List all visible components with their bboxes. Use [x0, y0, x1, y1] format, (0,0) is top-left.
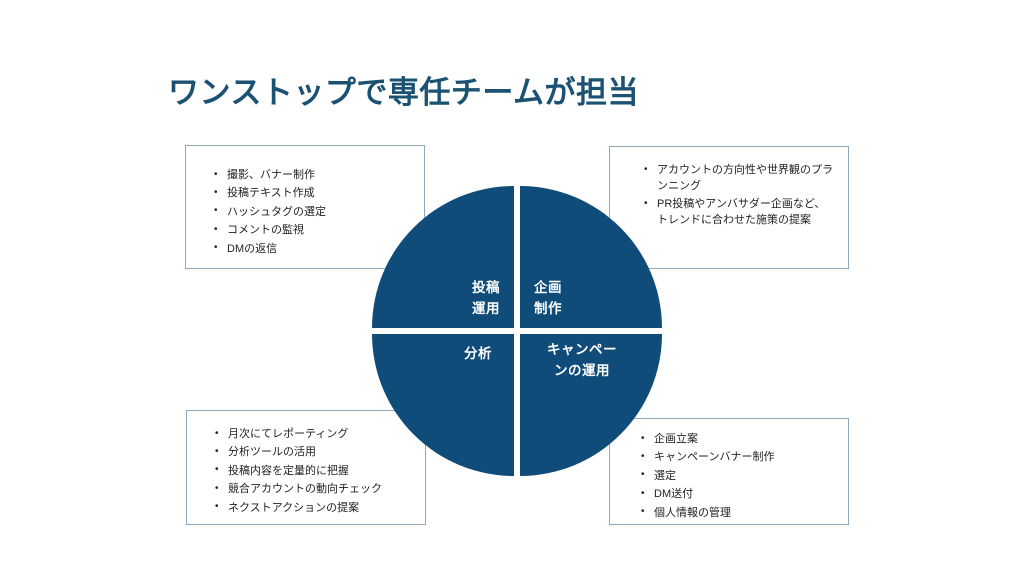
slide-canvas: ワンストップで専任チームが担当 撮影、バナー制作投稿テキスト作成ハッシュタグの選… — [0, 0, 1024, 576]
circle-quadrant-bottom-right[interactable]: キャンペー ンの運用 — [520, 334, 662, 476]
circle-quadrant-label-bottom-right: キャンペー ンの運用 — [526, 340, 638, 382]
list-item: 企画立案 — [641, 432, 848, 448]
list-item: キャンペーンバナー制作 — [641, 450, 848, 466]
circle-quadrant-top-right[interactable]: 企画 制作 — [520, 186, 662, 328]
circle-quadrant-top-left[interactable]: 投稿 運用 — [372, 186, 514, 328]
quartered-circle-diagram: 投稿 運用 企画 制作 分析 キャンペー ンの運用 — [372, 186, 662, 476]
list-item: 競合アカウントの動向チェック — [215, 482, 425, 498]
list-item: 選定 — [641, 469, 848, 485]
circle-quadrant-label-bottom-left: 分析 — [464, 344, 492, 365]
list-item: PR投稿やアンバサダー企画など、トレンドに合わせた施策の提案 — [644, 197, 834, 229]
circle-quadrant-label-top-left: 投稿 運用 — [472, 278, 500, 320]
list-item: 個人情報の管理 — [641, 506, 848, 522]
circle-quadrant-bottom-left[interactable]: 分析 — [372, 334, 514, 476]
list-item: アカウントの方向性や世界観のプランニング — [644, 163, 834, 195]
list-item: ネクストアクションの提案 — [215, 501, 425, 517]
circle-quadrant-label-top-right: 企画 制作 — [534, 278, 562, 320]
page-title: ワンストップで専任チームが担当 — [168, 74, 639, 113]
list-item: 撮影、バナー制作 — [214, 168, 424, 184]
list-item: DM送付 — [641, 487, 848, 503]
